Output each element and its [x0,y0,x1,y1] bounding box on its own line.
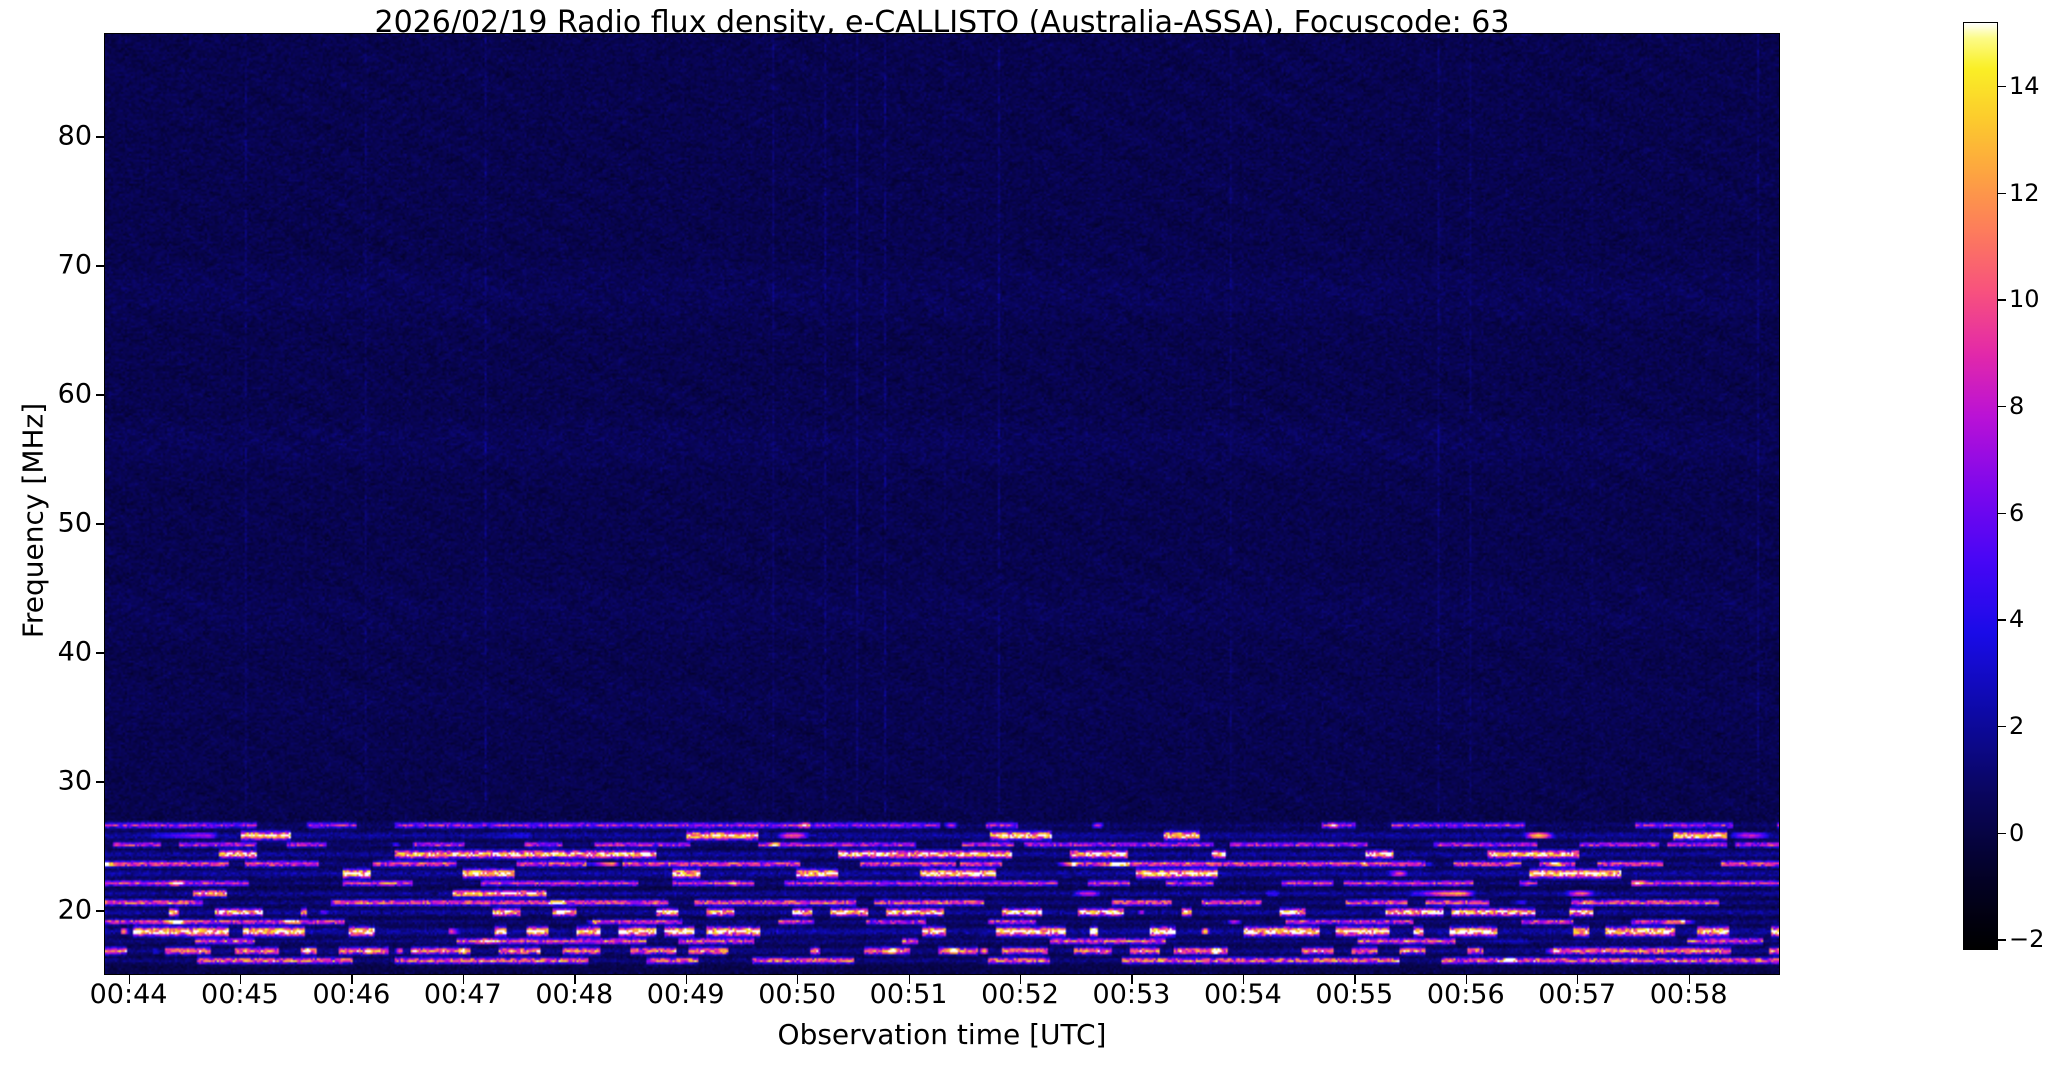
plot-area [104,33,1780,975]
x-tick-mark [1689,975,1690,984]
x-tick-label: 00:44 [90,981,168,1008]
y-tick-label: 30 [58,768,92,795]
x-tick-mark [351,975,352,984]
x-tick-mark [1243,975,1244,984]
x-axis-title: Observation time [UTC] [104,1018,1780,1051]
x-tick-label: 00:51 [870,981,948,1008]
x-tick-label: 00:46 [312,981,390,1008]
y-tick-label: 70 [58,252,92,279]
x-tick-mark [1354,975,1355,984]
colorbar-tick-label: 12 [2009,181,2040,205]
colorbar [1963,22,1998,950]
x-tick-mark [1131,975,1132,984]
colorbar-tick-mark [1998,619,2006,620]
y-tick-mark [96,910,105,911]
x-tick-mark [463,975,464,984]
x-tick-mark [240,975,241,984]
y-tick-label: 40 [58,639,92,666]
x-tick-label: 00:58 [1650,981,1728,1008]
x-tick-mark [909,975,910,984]
x-tick-mark [1020,975,1021,984]
colorbar-tick-mark [1998,299,2006,300]
y-tick-mark [96,265,105,266]
colorbar-tick-label: 10 [2009,287,2040,311]
x-tick-label: 00:50 [758,981,836,1008]
x-tick-label: 00:55 [1315,981,1393,1008]
x-tick-mark [797,975,798,984]
x-tick-mark [1466,975,1467,984]
y-axis-title: Frequency [MHz] [17,371,50,671]
x-tick-label: 00:47 [424,981,502,1008]
x-tick-label: 00:57 [1538,981,1616,1008]
x-tick-mark [1577,975,1578,984]
colorbar-tick-mark [1998,513,2006,514]
y-tick-mark [96,394,105,395]
x-tick-mark [129,975,130,984]
colorbar-tick-mark [1998,833,2006,834]
y-tick-label: 80 [58,123,92,150]
y-tick-mark [96,652,105,653]
colorbar-tick-label: 2 [2009,714,2024,738]
colorbar-tick-label: 0 [2009,821,2024,845]
colorbar-tick-mark [1998,193,2006,194]
colorbar-tick-mark [1998,939,2006,940]
spectrogram-canvas [105,34,1779,974]
x-tick-mark [574,975,575,984]
colorbar-tick-mark [1998,86,2006,87]
x-tick-label: 00:45 [201,981,279,1008]
colorbar-tick-label: 6 [2009,501,2024,525]
x-tick-label: 00:49 [647,981,725,1008]
colorbar-gradient [1964,23,1997,949]
x-tick-label: 00:54 [1204,981,1282,1008]
colorbar-tick-label: 4 [2009,607,2024,631]
colorbar-tick-label: 14 [2009,74,2040,98]
y-tick-label: 50 [58,510,92,537]
y-tick-label: 60 [58,381,92,408]
colorbar-tick-mark [1998,406,2006,407]
y-tick-label: 20 [58,897,92,924]
x-tick-label: 00:53 [1093,981,1171,1008]
y-tick-mark [96,523,105,524]
colorbar-tick-mark [1998,726,2006,727]
x-tick-label: 00:52 [981,981,1059,1008]
colorbar-tick-label: −2 [2009,927,2044,951]
spectrogram-image [105,34,1779,974]
y-tick-mark [96,136,105,137]
x-tick-label: 00:56 [1427,981,1505,1008]
x-tick-label: 00:48 [535,981,613,1008]
y-tick-mark [96,781,105,782]
x-tick-mark [686,975,687,984]
spectrogram-figure: 2026/02/19 Radio flux density, e-CALLIST… [0,0,2047,1067]
colorbar-tick-label: 8 [2009,394,2024,418]
